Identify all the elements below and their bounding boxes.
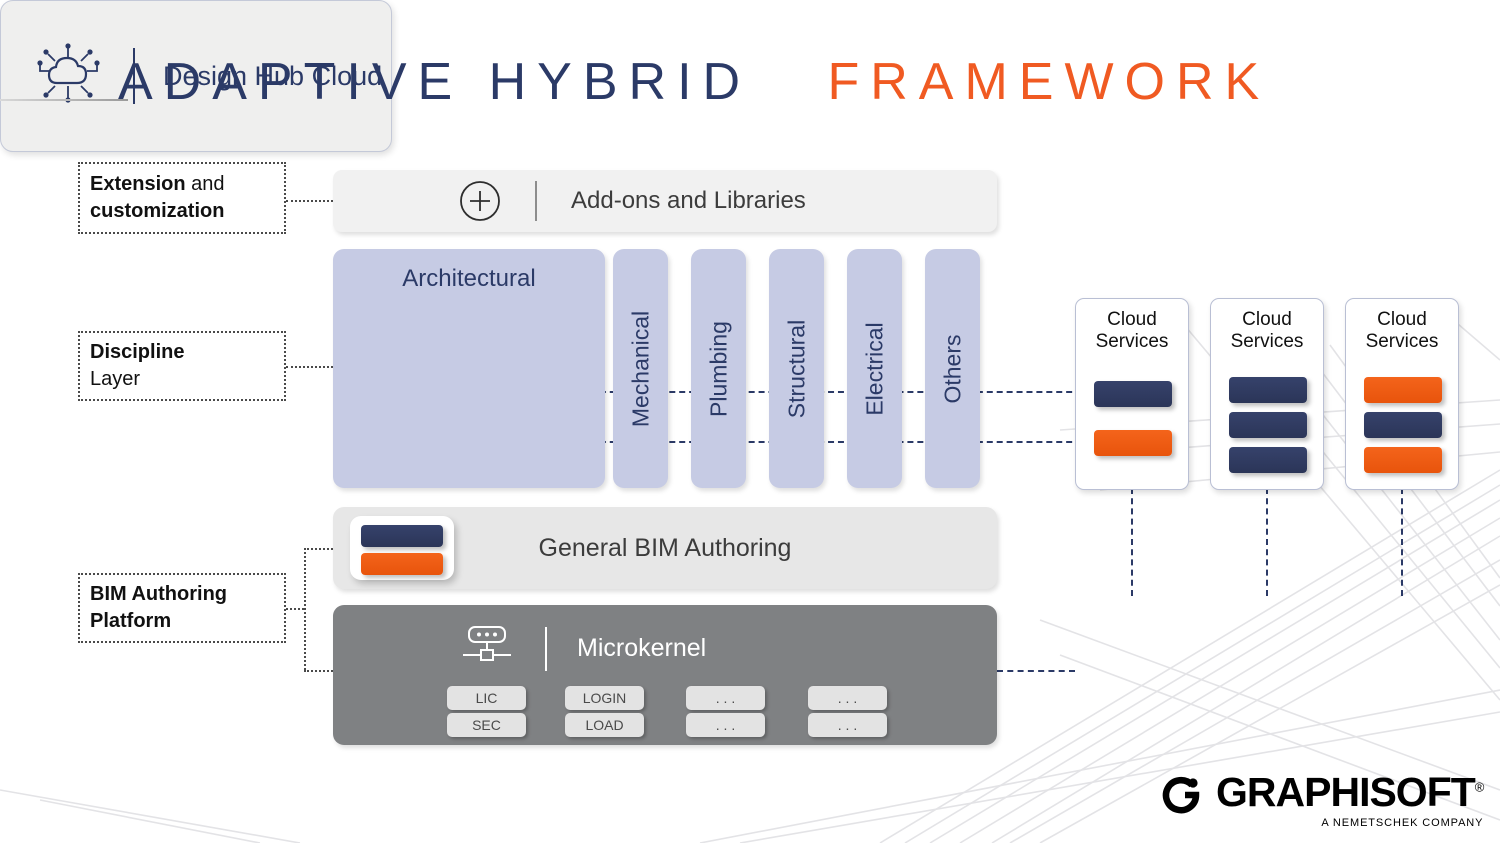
bar-navy [361, 525, 443, 547]
cloud-card-title: Cloud Services [1346, 309, 1458, 354]
page-title: ADAPTIVE HYBRID FRAMEWORK [118, 52, 1270, 112]
cloud-title-line1: Cloud [1242, 309, 1292, 330]
addons-divider [535, 181, 537, 221]
general-bim-label: General BIM Authoring [539, 534, 792, 563]
architectural-label: Architectural [333, 265, 605, 293]
plus-circle-icon [459, 180, 501, 222]
slide-canvas: ADAPTIVE HYBRID FRAMEWORK Extension and … [0, 0, 1500, 843]
column-label: Electrical [861, 322, 888, 415]
cloud-title-line2: Services [1231, 331, 1304, 352]
kernel-chip-more-3[interactable]: . . . [808, 686, 887, 710]
bar-orange [1364, 447, 1442, 473]
cloud-card-title: Cloud Services [1211, 309, 1323, 354]
logo-wordmark: GRAPHISOFT® [1216, 772, 1483, 813]
server-hub-icon [459, 623, 515, 674]
kernel-chip-sec[interactable]: SEC [447, 713, 526, 737]
column-label: Structural [783, 319, 810, 417]
general-bim-card[interactable] [350, 516, 454, 580]
connector-extension [286, 200, 333, 202]
addons-label: Add-ons and Libraries [571, 187, 806, 215]
column-label: Mechanical [627, 310, 654, 426]
discipline-column-electrical[interactable]: Electrical [847, 249, 902, 488]
bar-navy [1229, 377, 1307, 403]
label-bim-authoring-platform: BIM Authoring Platform [78, 573, 286, 643]
label-ext-bold: Extension [90, 173, 186, 195]
dash-cloud3-to-hub [1401, 488, 1403, 596]
kernel-chip-login[interactable]: LOGIN [565, 686, 644, 710]
kernel-chip-more-4[interactable]: . . . [808, 713, 887, 737]
cloud-services-card-2[interactable]: Cloud Services [1210, 298, 1324, 490]
label-bim-bold2: Platform [90, 610, 171, 632]
bar-navy [1094, 381, 1172, 407]
discipline-column-plumbing[interactable]: Plumbing [691, 249, 746, 488]
cloud-title-line2: Services [1096, 331, 1169, 352]
cloud-title-line1: Cloud [1107, 309, 1157, 330]
bar-orange [1094, 430, 1172, 456]
bar-orange [361, 553, 443, 575]
kernel-chip-more-2[interactable]: . . . [686, 713, 765, 737]
kernel-chip-more-1[interactable]: . . . [686, 686, 765, 710]
dash-kernel-to-hub [997, 670, 1075, 672]
graphisoft-logo: GRAPHISOFT® A NEMETSCHEK COMPANY [1160, 772, 1483, 829]
graphisoft-mark-icon [1160, 774, 1202, 816]
microkernel-panel[interactable]: Microkernel LIC SEC LOGIN LOAD . . . . .… [333, 605, 997, 745]
microkernel-header: Microkernel [459, 623, 706, 674]
bar-navy [1229, 447, 1307, 473]
architectural-panel[interactable]: Architectural [333, 249, 605, 488]
label-ext-bold2: customization [90, 200, 224, 222]
bar-orange [1364, 377, 1442, 403]
page-title-part2: FRAMEWORK [827, 53, 1270, 111]
connector-bim-bracket [304, 548, 306, 670]
bar-navy [1364, 412, 1442, 438]
title-rule [0, 99, 128, 101]
page-title-part1: ADAPTIVE HYBRID [118, 53, 751, 111]
microkernel-label: Microkernel [577, 634, 706, 663]
label-disc-thin2: Layer [90, 368, 140, 390]
discipline-column-others[interactable]: Others [925, 249, 980, 488]
logo-tagline: A NEMETSCHEK COMPANY [1321, 817, 1483, 829]
connector-bim-stub [286, 608, 304, 610]
cloud-card-title: Cloud Services [1076, 309, 1188, 354]
bar-navy [1229, 412, 1307, 438]
cloud-title-line1: Cloud [1377, 309, 1427, 330]
microkernel-divider [545, 627, 547, 671]
cloud-services-card-1[interactable]: Cloud Services [1075, 298, 1189, 490]
logo-registered: ® [1475, 779, 1484, 794]
column-label: Others [939, 334, 966, 403]
connector-discipline [286, 366, 333, 368]
addons-and-libraries-panel[interactable]: Add-ons and Libraries [333, 170, 997, 232]
kernel-chip-load[interactable]: LOAD [565, 713, 644, 737]
connector-bim-top [304, 548, 333, 550]
column-label: Plumbing [705, 321, 732, 417]
discipline-column-structural[interactable]: Structural [769, 249, 824, 488]
label-bim-bold: BIM Authoring [90, 583, 227, 605]
label-discipline-layer: Discipline Layer [78, 331, 286, 401]
logo-name: GRAPHISOFT [1216, 769, 1475, 815]
cloud-services-card-3[interactable]: Cloud Services [1345, 298, 1459, 490]
discipline-column-mechanical[interactable]: Mechanical [613, 249, 668, 488]
cloud-title-line2: Services [1366, 331, 1439, 352]
kernel-chip-lic[interactable]: LIC [447, 686, 526, 710]
connector-bim-bottom [304, 670, 333, 672]
label-ext-thin: and [186, 173, 225, 195]
dash-cloud1-to-hub [1131, 488, 1133, 596]
dash-cloud2-to-hub [1266, 488, 1268, 596]
label-extension-and-customization: Extension and customization [78, 162, 286, 234]
label-disc-bold: Discipline [90, 341, 184, 363]
